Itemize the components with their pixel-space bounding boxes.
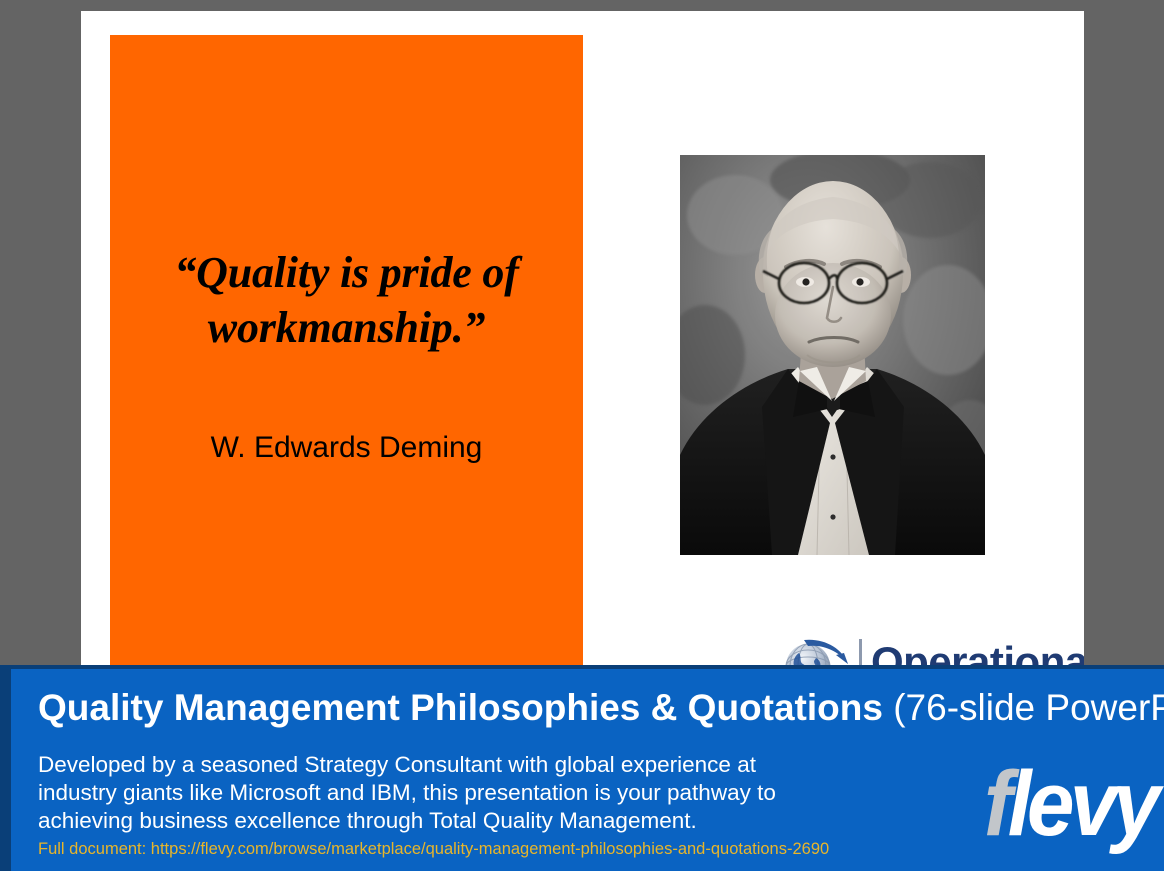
quote-text: “Quality is pride of workmanship.” bbox=[128, 245, 565, 355]
flevy-logo-f: f bbox=[984, 753, 1008, 855]
flevy-logo-levy: levy bbox=[1008, 753, 1156, 855]
promo-title-main: Quality Management Philosophies & Quotat… bbox=[38, 687, 883, 728]
promo-banner-inner: Quality Management Philosophies & Quotat… bbox=[11, 669, 1164, 871]
promo-title-sub: (76-slide PowerPoi bbox=[883, 687, 1164, 728]
flevy-logo[interactable]: flevy bbox=[984, 758, 1156, 850]
slide-viewer: “Quality is pride of workmanship.” W. Ed… bbox=[0, 0, 1164, 871]
promo-title: Quality Management Philosophies & Quotat… bbox=[38, 689, 1164, 726]
portrait-image bbox=[680, 155, 985, 555]
portrait-photo bbox=[680, 155, 985, 555]
promo-document-url[interactable]: Full document: https://flevy.com/browse/… bbox=[38, 840, 829, 859]
quote-attribution: W. Edwards Deming bbox=[128, 431, 565, 465]
promo-banner: Quality Management Philosophies & Quotat… bbox=[0, 665, 1164, 871]
promo-description: Developed by a seasoned Strategy Consult… bbox=[38, 751, 828, 835]
quote-panel: “Quality is pride of workmanship.” W. Ed… bbox=[110, 35, 583, 735]
slide-page: “Quality is pride of workmanship.” W. Ed… bbox=[81, 11, 1084, 761]
